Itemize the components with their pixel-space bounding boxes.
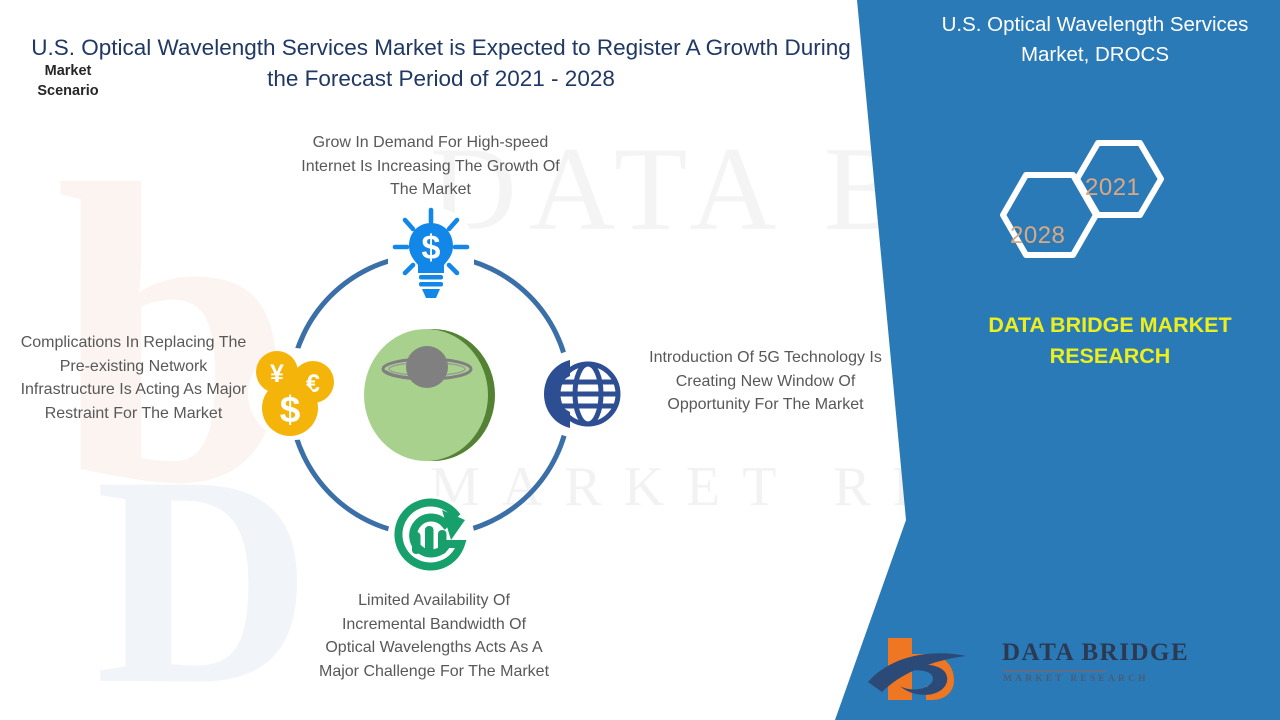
svg-text:$: $ xyxy=(280,389,301,430)
caption-challenge: Limited Availability Of Incremental Band… xyxy=(318,589,550,683)
caption-opportunity: Introduction Of 5G Technology Is Creatin… xyxy=(648,346,883,417)
panel-brand-name: DATA BRIDGE MARKET RESEARCH xyxy=(950,310,1270,372)
data-bridge-b-logo-icon xyxy=(866,630,996,702)
caption-driver: Grow In Demand For High-speed Internet I… xyxy=(288,131,573,202)
currency-coins-icon[interactable]: ¥ € $ xyxy=(244,344,344,444)
hexagon-year-group: 2021 2028 xyxy=(985,135,1185,290)
svg-text:$: $ xyxy=(422,229,441,267)
lightbulb-dollar-icon[interactable]: $ xyxy=(388,203,474,303)
logo-divider xyxy=(1003,670,1106,672)
caption-restraint: Complications In Replacing The Pre-exist… xyxy=(16,331,251,425)
center-node xyxy=(361,327,497,463)
panel-title: U.S. Optical Wavelength Services Market,… xyxy=(930,10,1260,69)
center-label-line2: Scenario xyxy=(0,82,136,102)
center-label: Market Scenario xyxy=(0,62,136,101)
refresh-bar-chart-icon[interactable] xyxy=(385,494,477,586)
logo-main-text: DATA BRIDGE xyxy=(1002,639,1189,667)
phone-globe-icon[interactable] xyxy=(532,348,624,440)
data-bridge-logo: DATA BRIDGE MARKET RESEARCH xyxy=(866,630,1106,702)
drocs-circular-diagram: Market Scenario $ xyxy=(0,0,880,720)
center-label-line1: Market xyxy=(0,62,136,82)
hexagon-label-start-year: 2021 xyxy=(1085,174,1140,202)
hexagon-label-end-year: 2028 xyxy=(1010,222,1065,250)
infographic-canvas: b D DATA BR MARKET RESEARCH U.S. Optical… xyxy=(0,0,1280,720)
logo-sub-text: MARKET RESEARCH xyxy=(1003,674,1149,684)
hexagon-outlines-icon xyxy=(985,135,1185,290)
